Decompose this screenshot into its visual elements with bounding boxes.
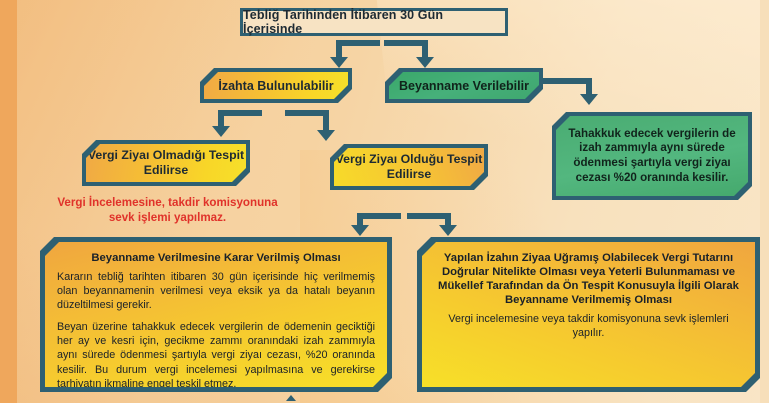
node-tahakkuk-text: Tahakkuk edecek vergilerin de izah zammı… bbox=[564, 127, 740, 185]
arrowhead-izah-var bbox=[317, 130, 335, 141]
node-beyanname-verilebilir: Beyanname Verilebilir bbox=[385, 68, 543, 103]
node-title-label: Tebliğ Tarihinden İtibaren 30 Gün İçeris… bbox=[243, 8, 505, 36]
connector-izah-yok-h bbox=[218, 110, 262, 116]
node-beyanname-fill: Beyanname Verilebilir bbox=[389, 72, 539, 99]
arrowhead-izah-yok bbox=[212, 126, 230, 137]
diagram-canvas: Tebliğ Tarihinden İtibaren 30 Gün İçeris… bbox=[0, 0, 769, 403]
node-izahta-bulunulabilir: İzahta Bulunulabilir bbox=[200, 68, 352, 103]
node-tahakkuk-fill: Tahakkuk edecek vergilerin de izah zammı… bbox=[556, 116, 748, 196]
right-edge-strip bbox=[760, 0, 769, 403]
node-vergi-ziyai-yok: Vergi Ziyaı Olmadığı Tespit Edilirse bbox=[82, 140, 250, 186]
node-title: Tebliğ Tarihinden İtibaren 30 Gün İçeris… bbox=[240, 8, 508, 36]
arrowhead-title-izahta bbox=[330, 57, 348, 68]
arrowhead-beyan-tahakkuk bbox=[580, 94, 598, 105]
node-ziyai-var-label: Vergi Ziyaı Olduğu Tespit Edilirse bbox=[334, 152, 484, 182]
node-beyanname-label: Beyanname Verilebilir bbox=[399, 79, 529, 93]
panel-right-fill: Yapılan İzahın Ziyaa Uğramış Olabilecek … bbox=[422, 242, 755, 387]
left-edge-strip bbox=[0, 0, 17, 403]
node-title-fill: Tebliğ Tarihinden İtibaren 30 Gün İçeris… bbox=[243, 11, 505, 33]
panel-right-paragraph-1: Vergi incelemesine veya takdir komisyonu… bbox=[434, 312, 743, 340]
panel-left-paragraph-2: Beyan üzerine tahakkuk edecek vergilerin… bbox=[57, 320, 375, 390]
panel-left-paragraph-1: Kararın tebliğ tarihten itibaren 30 gün … bbox=[57, 270, 375, 312]
node-ziyai-var-fill: Vergi Ziyaı Olduğu Tespit Edilirse bbox=[334, 148, 484, 186]
panel-left-heading: Beyanname Verilmesine Karar Verilmiş Olm… bbox=[57, 251, 375, 265]
connector-var-left-h bbox=[357, 213, 401, 219]
arrowhead-bottom-marker bbox=[286, 395, 296, 401]
node-izahta-label: İzahta Bulunulabilir bbox=[218, 79, 333, 93]
node-ziyai-yok-label: Vergi Ziyaı Olmadığı Tespit Edilirse bbox=[86, 148, 246, 178]
panel-right-heading: Yapılan İzahın Ziyaa Uğramış Olabilecek … bbox=[434, 251, 743, 307]
panel-izah-yetersiz: Yapılan İzahın Ziyaa Uğramış Olabilecek … bbox=[417, 237, 760, 392]
arrowhead-title-beyan bbox=[416, 57, 434, 68]
node-ziyai-yok-fill: Vergi Ziyaı Olmadığı Tespit Edilirse bbox=[86, 144, 246, 182]
node-izahta-fill: İzahta Bulunulabilir bbox=[204, 72, 348, 99]
panel-left-fill: Beyanname Verilmesine Karar Verilmiş Olm… bbox=[45, 242, 387, 387]
note-no-inspection: Vergi İncelemesine, takdir komisyonuna s… bbox=[50, 196, 285, 225]
arrowhead-var-left bbox=[351, 225, 369, 236]
panel-beyanname-karar: Beyanname Verilmesine Karar Verilmiş Olm… bbox=[40, 237, 392, 392]
connector-title-izahta-h bbox=[336, 40, 380, 46]
node-vergi-ziyai-var: Vergi Ziyaı Olduğu Tespit Edilirse bbox=[330, 144, 488, 190]
connector-beyan-tahakkuk-h bbox=[543, 78, 592, 84]
node-tahakkuk-info: Tahakkuk edecek vergilerin de izah zammı… bbox=[552, 112, 752, 200]
arrowhead-var-right bbox=[439, 225, 457, 236]
